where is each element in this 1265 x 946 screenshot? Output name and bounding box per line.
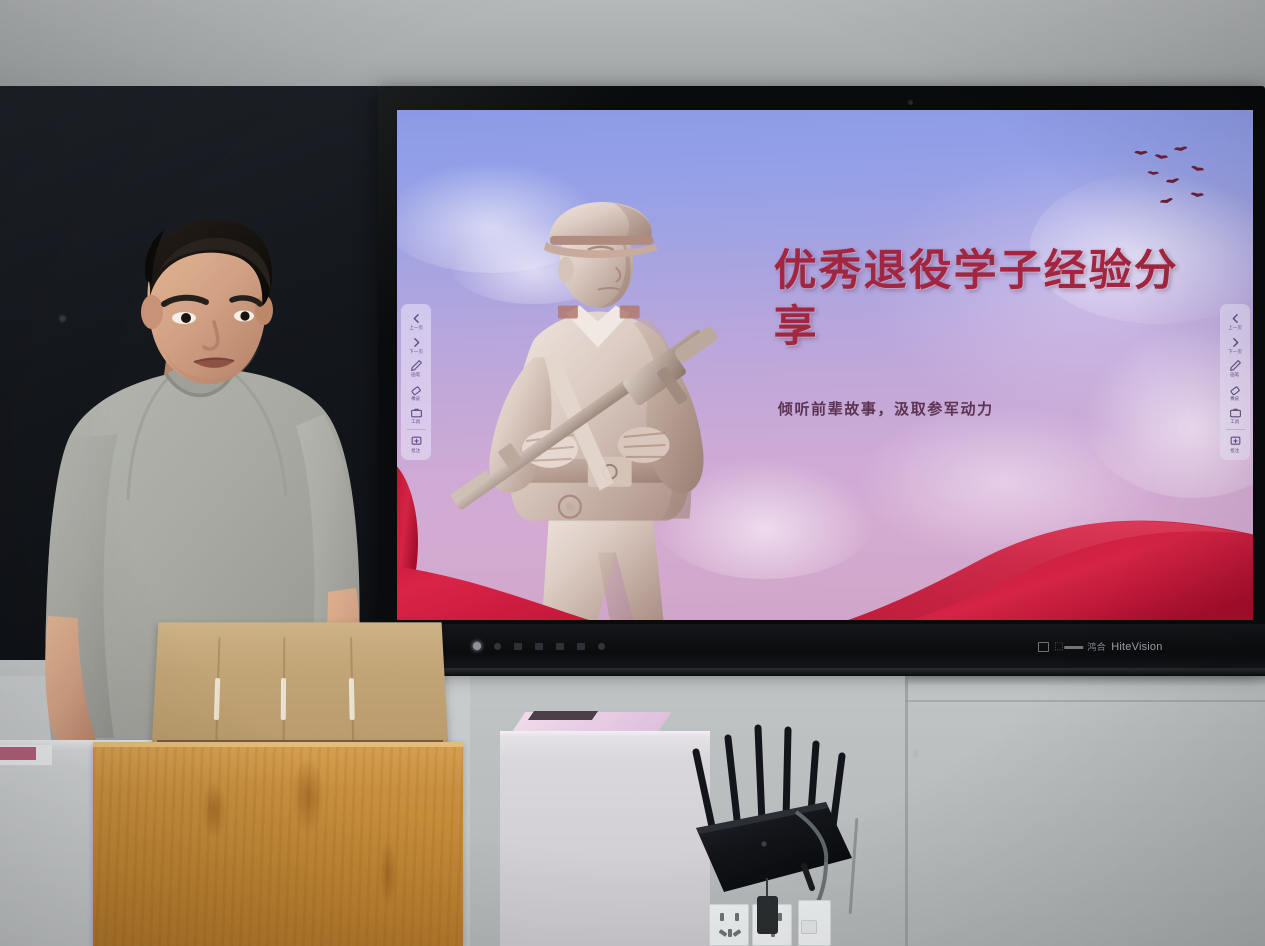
red-silk-ribbon-wave xyxy=(397,416,1253,620)
toolbar-item-eraser[interactable]: 橡皮 xyxy=(1222,380,1248,404)
power-outlet[interactable] xyxy=(709,904,749,946)
chevron-left-icon xyxy=(1229,312,1242,325)
toolbar-divider xyxy=(1226,429,1245,430)
pen-icon xyxy=(1229,359,1242,372)
toolbox-icon xyxy=(1229,406,1242,419)
panel-control-buttons[interactable] xyxy=(473,642,605,650)
toolbar-label: 画笔 xyxy=(1230,373,1239,377)
volume-down-icon[interactable] xyxy=(556,643,564,650)
paper-red-mark xyxy=(0,747,36,760)
toolbar-item-tools[interactable]: 工具 xyxy=(1222,403,1248,427)
ir-sensor-dot xyxy=(908,100,913,105)
menu-button-icon[interactable] xyxy=(494,643,501,650)
flying-birds-flock xyxy=(1133,141,1244,238)
toolbar-label: 批注 xyxy=(1230,449,1239,453)
toolbar-label: 工具 xyxy=(1230,420,1239,424)
eraser-icon xyxy=(1229,383,1242,396)
panel-brand: ⬚ ▬▬ 鸿合 HiteVision xyxy=(1038,640,1163,653)
brand-name-en: HiteVision xyxy=(1111,641,1162,653)
cabinet-dark-strip xyxy=(528,711,598,720)
toolbar-item-next-page[interactable]: 下一页 xyxy=(1222,333,1248,357)
toolbar-label: 上一页 xyxy=(1228,326,1242,330)
wifi-router xyxy=(676,716,896,916)
chevron-right-icon xyxy=(1229,336,1242,349)
toolbar-label: 下一页 xyxy=(1228,350,1242,354)
brand-mark-icon xyxy=(1038,642,1049,652)
wooden-lectern xyxy=(93,742,463,946)
power-button-icon[interactable] xyxy=(473,642,481,650)
wall-seam-horizontal xyxy=(905,700,1265,702)
home-button-icon[interactable] xyxy=(535,643,543,650)
annotate-icon xyxy=(1229,435,1242,448)
back-button-icon[interactable] xyxy=(598,643,605,650)
slide-screen[interactable]: 优秀退役学子经验分享 倾听前辈故事，汲取参军动力 上一页 下一页 xyxy=(397,110,1253,620)
lectern-top-edge xyxy=(93,742,463,747)
toolbar-item-annotate[interactable]: 批注 xyxy=(1222,432,1248,456)
toolbar-label: 橡皮 xyxy=(1230,397,1239,401)
classroom-scene: 优秀退役学子经验分享 倾听前辈故事，汲取参军动力 上一页 下一页 xyxy=(0,0,1265,946)
toolbar-item-prev-page[interactable]: 上一页 xyxy=(1222,309,1248,333)
wall-nail xyxy=(913,749,918,758)
wooden-document-rack xyxy=(151,622,448,750)
wall-seam-vertical xyxy=(905,660,908,946)
white-plug xyxy=(801,920,817,934)
toolbar-item-pen[interactable]: 画笔 xyxy=(1222,356,1248,380)
power-adapter xyxy=(757,896,778,934)
slide-title: 优秀退役学子经验分享 xyxy=(774,243,1219,357)
panel-bottom-edge xyxy=(378,668,1265,676)
brand-name-cn: 鸿合 xyxy=(1087,640,1106,653)
volume-up-icon[interactable] xyxy=(577,643,585,650)
onscreen-toolbar-right[interactable]: 上一页 下一页 画笔 橡皮 xyxy=(1220,304,1250,460)
ceiling-wall-strip xyxy=(0,0,1265,92)
brand-glyph-icon: ⬚ ▬▬ xyxy=(1054,641,1082,652)
slide-subtitle: 倾听前辈故事，汲取参军动力 xyxy=(778,398,1189,419)
source-button-icon[interactable] xyxy=(514,643,522,650)
